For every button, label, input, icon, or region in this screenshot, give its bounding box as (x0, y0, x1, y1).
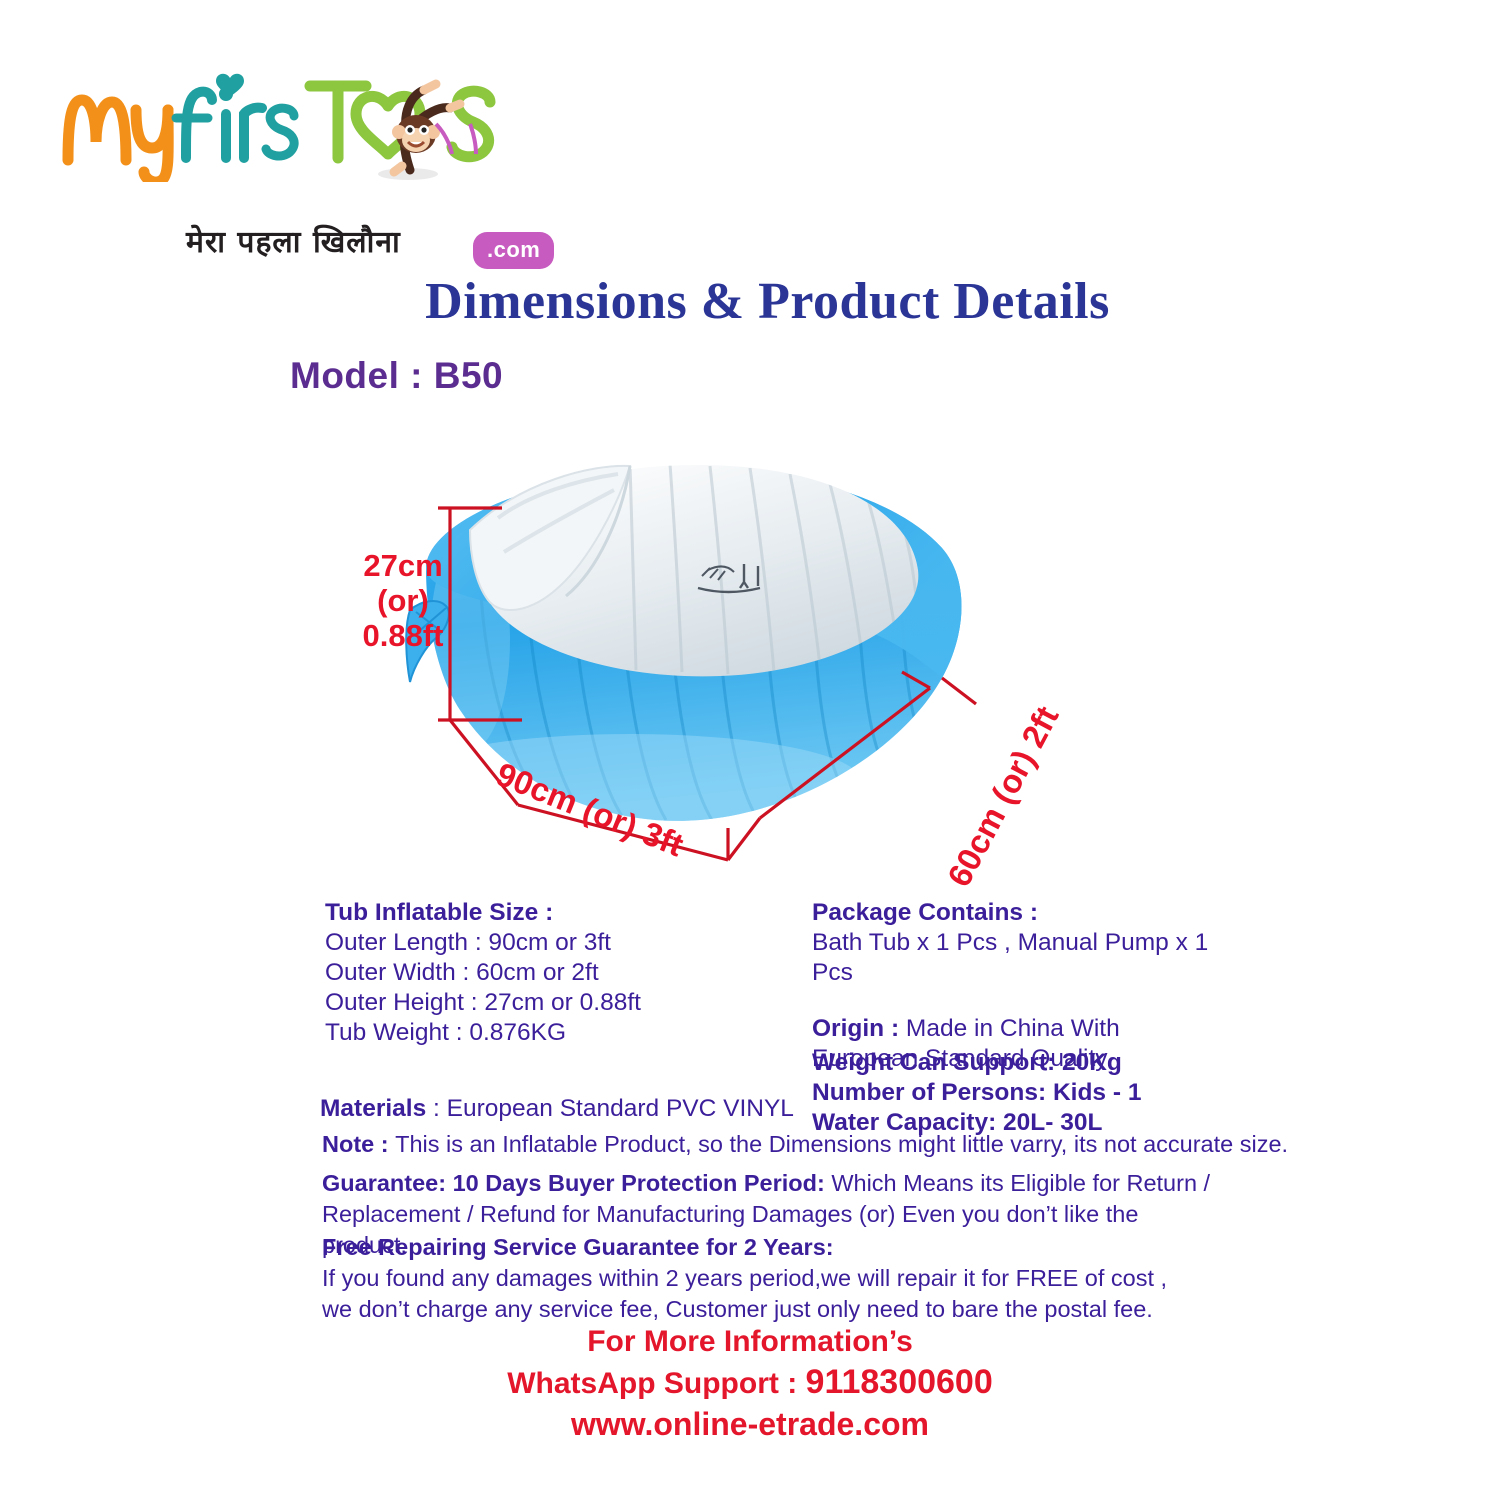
repair-line-2: we don’t charge any service fee, Custome… (322, 1294, 1222, 1325)
note-label: Note : (322, 1131, 395, 1157)
tub-size-spec-block: Tub Inflatable Size : Outer Length : 90c… (325, 898, 795, 1048)
guarantee-label: Guarantee: 10 Days Buyer Protection Peri… (322, 1170, 825, 1196)
footer-whatsapp-number[interactable]: 9118300600 (806, 1363, 993, 1401)
spec-row-outer-height: Outer Height : 27cm or 0.88ft (325, 988, 795, 1018)
note-value: This is an Inflatable Product, so the Di… (395, 1131, 1288, 1157)
footer-whatsapp-row[interactable]: WhatsApp Support : 9118300600 (0, 1362, 1500, 1404)
brand-logo[interactable]: मेरा पहला खिलौना .com (58, 62, 498, 222)
logo-hindi-tagline: मेरा पहला खिलौना (186, 220, 401, 261)
dimension-height-line-1: 27cm (338, 548, 468, 583)
repair-heading: Free Repairing Service Guarantee for 2 Y… (322, 1232, 1222, 1263)
package-contains-heading: Package Contains : (812, 898, 1242, 928)
footer-website-link[interactable]: www.online-etrade.com (0, 1404, 1500, 1444)
materials-line: Materials : European Standard PVC VINYL (320, 1095, 794, 1123)
repair-guarantee-block: Free Repairing Service Guarantee for 2 Y… (322, 1232, 1222, 1325)
contact-footer: For More Information’s WhatsApp Support … (0, 1322, 1500, 1444)
materials-label: Materials (320, 1095, 426, 1122)
note-line: Note : This is an Inflatable Product, so… (322, 1131, 1288, 1158)
spec-row-outer-width: Outer Width : 60cm or 2ft (325, 958, 795, 988)
capacity-row-weight-support: Weight Can Support: 20Kg (812, 1048, 1242, 1078)
origin-value-line-1: Made in China With (899, 1015, 1120, 1042)
logo-wordmark-icon (58, 62, 498, 182)
dimension-height-label: 27cm (or) 0.88ft (338, 548, 468, 653)
capacity-block: Weight Can Support: 20Kg Number of Perso… (812, 1048, 1242, 1138)
repair-line-1: If you found any damages within 2 years … (322, 1263, 1222, 1294)
dimension-height-line-3: 0.88ft (338, 618, 468, 653)
package-contains-value: Bath Tub x 1 Pcs , Manual Pump x 1 Pcs (812, 928, 1242, 988)
footer-more-info: For More Information’s (0, 1322, 1500, 1362)
page-title: Dimensions & Product Details (0, 272, 1500, 331)
spacer (812, 988, 1242, 1014)
origin-row: Origin : Made in China With (812, 1014, 1242, 1044)
spec-row-tub-weight: Tub Weight : 0.876KG (325, 1018, 795, 1048)
dimension-height-line-2: (or) (338, 583, 468, 618)
model-label: Model : B50 (290, 355, 503, 397)
tub-size-heading: Tub Inflatable Size : (325, 898, 795, 928)
origin-label: Origin : (812, 1015, 899, 1042)
spec-row-outer-length: Outer Length : 90cm or 3ft (325, 928, 795, 958)
capacity-row-persons: Number of Persons: Kids - 1 (812, 1078, 1242, 1108)
materials-value: : European Standard PVC VINYL (426, 1095, 794, 1122)
footer-whatsapp-label: WhatsApp Support : (507, 1367, 805, 1400)
logo-dotcom-badge: .com (473, 232, 554, 269)
